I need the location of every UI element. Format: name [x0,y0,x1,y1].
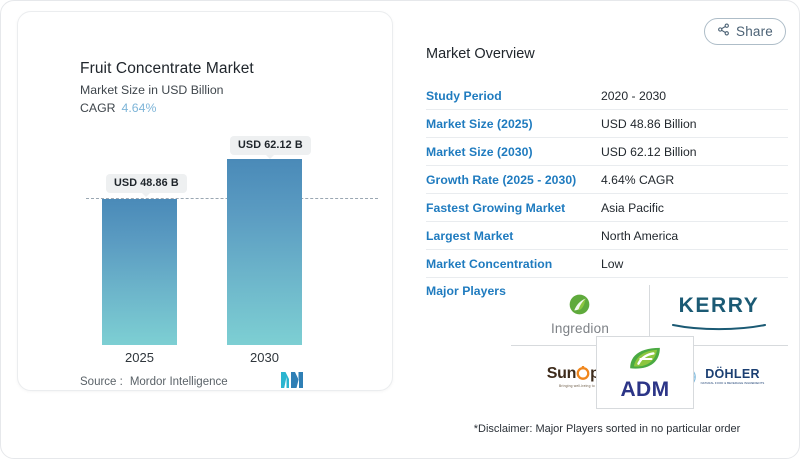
bar-label-2025: USD 48.86 B [106,174,187,193]
row-value: Low [601,257,623,271]
table-row: Largest Market North America [426,222,788,250]
sunopta-tagline: Bringing well-being to life [559,384,601,388]
sunopta-o-icon [576,365,590,383]
adm-wordmark: ADM [620,379,669,400]
source-label: Source : [80,376,123,388]
adm-leaf-icon [626,346,664,377]
ingredion-wordmark: Ingredion [551,321,609,336]
table-row: Fastest Growing Market Asia Pacific [426,194,788,222]
source-line: Source : Mordor Intelligence [80,376,228,388]
bar-2025[interactable] [102,199,177,345]
row-value: 2020 - 2030 [601,89,666,103]
dohler-tagline: NATURAL FOOD & BEVERAGE INGREDIENTS [701,381,765,385]
table-row: Market Size (2025) USD 48.86 Billion [426,110,788,138]
bar-chart-plot: USD 48.86 B USD 62.12 B 2025 2030 [18,12,394,392]
row-label: Growth Rate (2025 - 2030) [426,173,601,187]
row-label: Study Period [426,89,601,103]
market-overview-table: Study Period 2020 - 2030 Market Size (20… [426,82,788,304]
table-row: Study Period 2020 - 2030 [426,82,788,110]
major-players-logo-grid: Ingredion KERRY Sun [511,285,788,405]
market-summary-page: Share Fruit Concentrate Market Market Si… [0,0,800,459]
row-value: USD 62.12 Billion [601,145,697,159]
row-value: Asia Pacific [601,201,664,215]
disclaimer-text: *Disclaimer: Major Players sorted in no … [426,423,788,435]
row-label: Market Size (2030) [426,145,601,159]
row-label: Market Size (2025) [426,117,601,131]
table-row: Market Size (2030) USD 62.12 Billion [426,138,788,166]
x-axis-tick-2030: 2030 [227,350,302,365]
row-value: 4.64% CAGR [601,173,674,187]
row-label: Market Concentration [426,257,601,271]
bar-label-2030: USD 62.12 B [230,136,311,155]
table-row: Market Concentration Low [426,250,788,278]
table-row: Growth Rate (2025 - 2030) 4.64% CAGR [426,166,788,194]
bar-2030[interactable] [227,159,302,345]
market-overview-panel: Market Overview Study Period 2020 - 2030… [422,1,788,459]
x-axis-tick-2025: 2025 [102,350,177,365]
ingredion-leaf-icon [569,294,590,320]
chart-card: Fruit Concentrate Market Market Size in … [17,11,393,391]
row-value: USD 48.86 Billion [601,117,697,131]
source-name: Mordor Intelligence [130,376,228,388]
row-label: Largest Market [426,229,601,243]
kerry-swoosh-icon [672,318,766,336]
panel-title: Market Overview [426,46,535,62]
logo-cell-adm: ADM [596,336,694,409]
row-label: Fastest Growing Market [426,201,601,215]
kerry-wordmark: KERRY [679,294,760,318]
row-value: North America [601,229,678,243]
mordor-intelligence-logo [281,372,303,393]
dohler-wordmark: DÖHLER [705,367,760,381]
